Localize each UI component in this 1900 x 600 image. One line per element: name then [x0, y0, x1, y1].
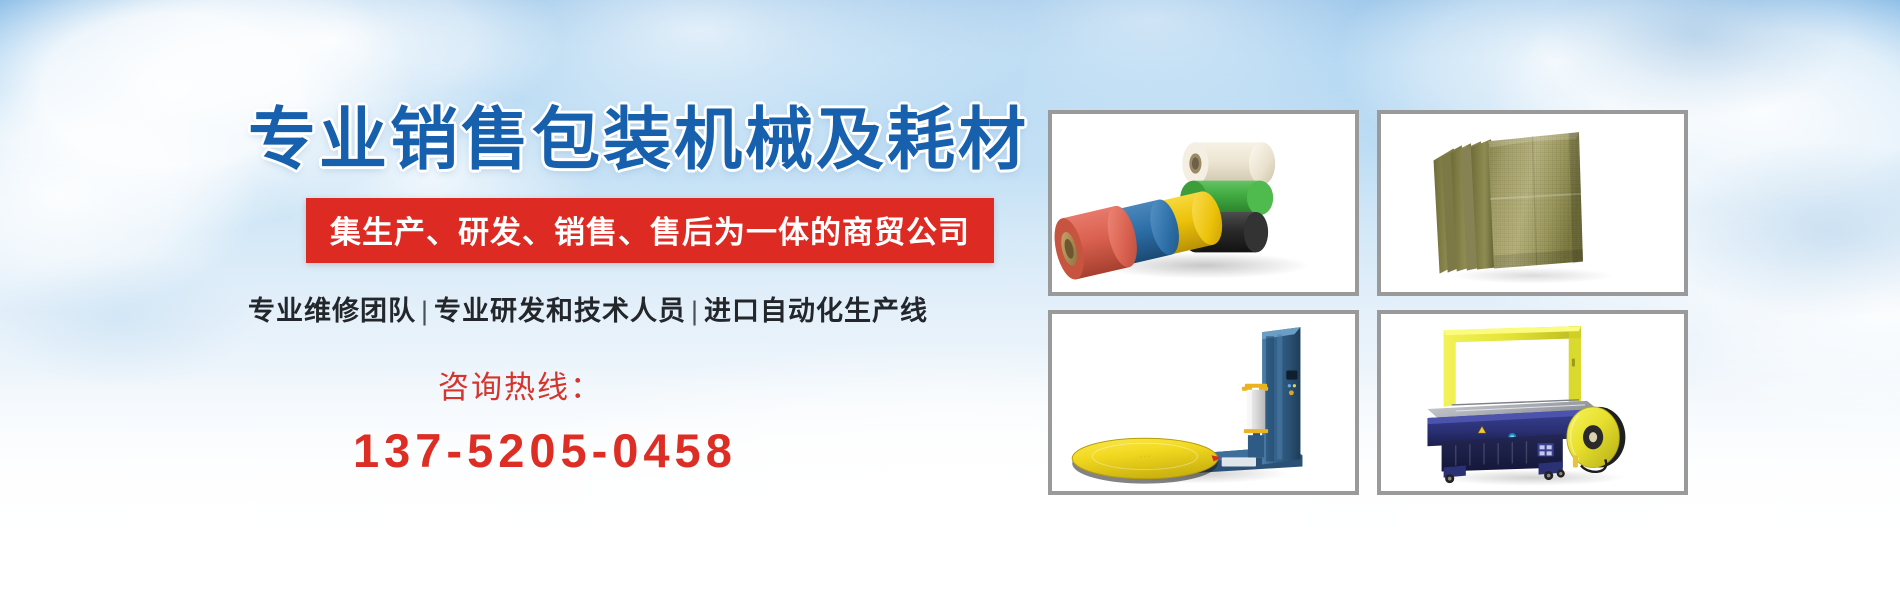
product-photo-strapping-machine[interactable]	[1377, 310, 1688, 496]
feature-item-2: 专业研发和技术人员	[434, 296, 686, 326]
roll-white	[1182, 142, 1275, 184]
tagline-badge: 集生产、研发、销售、售后为一体的商贸公司	[306, 198, 994, 263]
strapping-rolls-illustration	[1052, 114, 1355, 296]
machine-arch	[1444, 326, 1581, 407]
feature-separator-2: |	[686, 296, 704, 326]
hotline-phone-number[interactable]: 137-5205-0458	[353, 423, 968, 478]
product-image-grid: ◦ ◦ ◦	[1048, 110, 1688, 495]
headline-text-block: 专业销售包装机械及耗材 集生产、研发、销售、售后为一体的商贸公司 专业维修团队|…	[248, 105, 968, 478]
sack-front	[1488, 132, 1583, 268]
feature-item-1: 专业维修团队	[248, 296, 416, 326]
feature-item-3: 进口自动化生产线	[704, 296, 928, 326]
product-photo-woven-sacks[interactable]	[1377, 110, 1688, 296]
strapping-machine-illustration	[1381, 314, 1684, 496]
woven-sacks-illustration	[1381, 114, 1684, 296]
page-title: 专业销售包装机械及耗材	[248, 105, 968, 176]
product-photo-strapping-rolls[interactable]	[1048, 110, 1359, 296]
promotional-banner: 专业销售包装机械及耗材 集生产、研发、销售、售后为一体的商贸公司 专业维修团队|…	[0, 0, 1900, 600]
wrapper-mast	[1262, 327, 1300, 464]
sack-stack-edges	[1434, 139, 1497, 273]
wrapper-turntable: ◦ ◦ ◦	[1072, 438, 1221, 483]
svg-text:◦ ◦ ◦: ◦ ◦ ◦	[1140, 454, 1150, 460]
feature-list: 专业维修团队|专业研发和技术人员|进口自动化生产线	[248, 289, 968, 328]
stretch-wrapper-illustration: ◦ ◦ ◦	[1052, 314, 1355, 496]
product-photo-stretch-wrapper[interactable]: ◦ ◦ ◦	[1048, 310, 1359, 496]
feature-separator-1: |	[416, 296, 434, 326]
machine-connector	[1573, 455, 1578, 467]
hotline-label: 咨询热线：	[438, 362, 968, 407]
